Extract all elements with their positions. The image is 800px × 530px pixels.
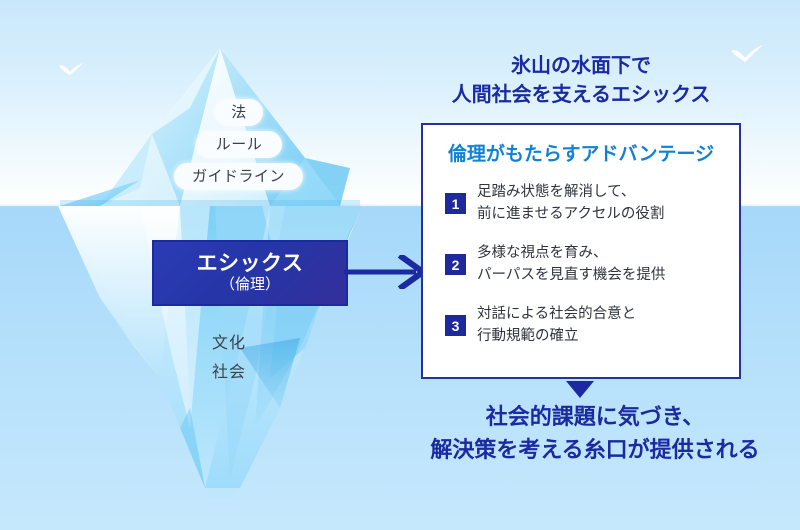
advantage-item: 2 多様な視点を育み、 パーパスを見直す機会を提供 — [445, 242, 725, 286]
ethics-subtitle: （倫理） — [220, 276, 280, 294]
advantage-text: 足踏み状態を解消して、 前に進ませるアクセルの役割 — [477, 181, 664, 225]
ethics-title: エシックス — [197, 252, 304, 275]
conclusion-line-2: 解決策を考える糸口が提供される — [400, 433, 790, 466]
advantage-text-line-1: 足踏み状態を解消して、 — [477, 181, 664, 203]
advantage-text-line-1: 多様な視点を育み、 — [477, 242, 665, 264]
pill-label: ガイドライン — [192, 169, 285, 184]
ethics-callout-box: エシックス （倫理） — [152, 240, 348, 306]
advantage-text-line-2: 前に進ませるアクセルの役割 — [477, 203, 664, 225]
headline-line-2: 人間社会を支えるエシックス — [420, 81, 742, 110]
infographic-canvas: 法 ルール ガイドライン エシックス （倫理） 文化 社会 氷山の水面下で 人間… — [0, 0, 800, 530]
advantage-list: 1 足踏み状態を解消して、 前に進ませるアクセルの役割 2 多様な視点を育み、 … — [445, 181, 725, 364]
iceberg-label-society: 社会 — [212, 358, 246, 382]
conclusion-text: 社会的課題に気づき、 解決策を考える糸口が提供される — [400, 400, 790, 466]
advantage-number-badge: 3 — [445, 315, 466, 336]
advantage-title: 倫理がもたらすアドバンテージ — [423, 139, 739, 166]
advantage-number-badge: 1 — [445, 193, 466, 214]
iceberg-pill-law: 法 — [215, 99, 263, 126]
advantage-text: 対話による社会的合意と 行動規範の確立 — [477, 303, 636, 347]
advantage-box: 倫理がもたらすアドバンテージ 1 足踏み状態を解消して、 前に進ませるアクセルの… — [421, 123, 741, 379]
headline-line-1: 氷山の水面下で — [420, 52, 742, 81]
advantage-number-badge: 2 — [445, 254, 466, 275]
conclusion-line-1: 社会的課題に気づき、 — [400, 400, 790, 433]
advantage-item: 1 足踏み状態を解消して、 前に進ませるアクセルの役割 — [445, 181, 725, 225]
advantage-text-line-1: 対話による社会的合意と — [477, 303, 636, 325]
pill-label: ルール — [216, 137, 263, 152]
advantage-item: 3 対話による社会的合意と 行動規範の確立 — [445, 303, 725, 347]
iceberg-label-culture: 文化 — [212, 329, 246, 353]
connector-arrow-icon — [344, 255, 428, 289]
advantage-text-line-2: 行動規範の確立 — [477, 325, 636, 347]
chevron-down-icon — [566, 381, 594, 398]
pill-label: 法 — [231, 105, 247, 120]
iceberg-pill-rule: ルール — [196, 131, 282, 158]
advantage-text-line-2: パーパスを見直す機会を提供 — [477, 264, 665, 286]
headline: 氷山の水面下で 人間社会を支えるエシックス — [420, 52, 742, 110]
advantage-text: 多様な視点を育み、 パーパスを見直す機会を提供 — [477, 242, 665, 286]
iceberg-pill-guideline: ガイドライン — [174, 163, 303, 190]
